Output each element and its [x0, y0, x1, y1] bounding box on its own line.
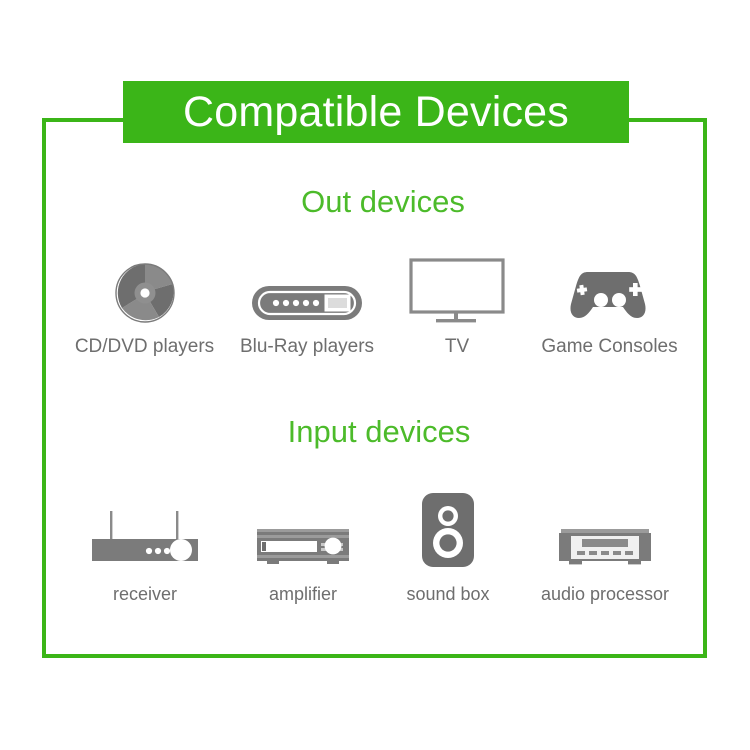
device-label: TV	[445, 336, 469, 358]
device-audio-processor: audio processor	[518, 523, 692, 605]
device-tv: TV	[387, 258, 527, 358]
device-label: Game Consoles	[541, 336, 677, 358]
device-blu-ray-players: Blu-Ray players	[227, 282, 387, 358]
device-label: audio processor	[541, 583, 669, 605]
television-icon	[409, 258, 505, 324]
device-label: receiver	[113, 583, 177, 605]
compact-disc-icon	[114, 262, 176, 324]
av-receiver-icon	[87, 507, 203, 569]
speaker-icon	[420, 491, 476, 569]
input-devices-row: receiver amplifier	[62, 480, 692, 605]
out-devices-row: CD/DVD players Blu-Ray players	[62, 248, 692, 358]
section-heading-out-devices: Out devices	[8, 186, 750, 217]
device-amplifier: amplifier	[228, 523, 378, 605]
device-label: amplifier	[269, 583, 337, 605]
device-label: CD/DVD players	[75, 336, 214, 358]
device-label: sound box	[406, 583, 489, 605]
title-banner: Compatible Devices	[123, 81, 629, 143]
section-heading-input-devices: Input devices	[4, 416, 750, 447]
device-receiver: receiver	[62, 507, 228, 605]
game-controller-icon	[562, 266, 658, 324]
blu-ray-player-icon	[251, 282, 363, 324]
compatible-devices-poster: Compatible Devices Out devices	[0, 0, 750, 750]
device-game-consoles: Game Consoles	[527, 266, 692, 358]
device-cd-dvd-players: CD/DVD players	[62, 262, 227, 358]
page-title: Compatible Devices	[183, 91, 569, 134]
audio-processor-icon	[557, 523, 653, 569]
amplifier-icon	[255, 523, 351, 569]
device-label: Blu-Ray players	[240, 336, 374, 358]
device-sound-box: sound box	[378, 491, 518, 605]
